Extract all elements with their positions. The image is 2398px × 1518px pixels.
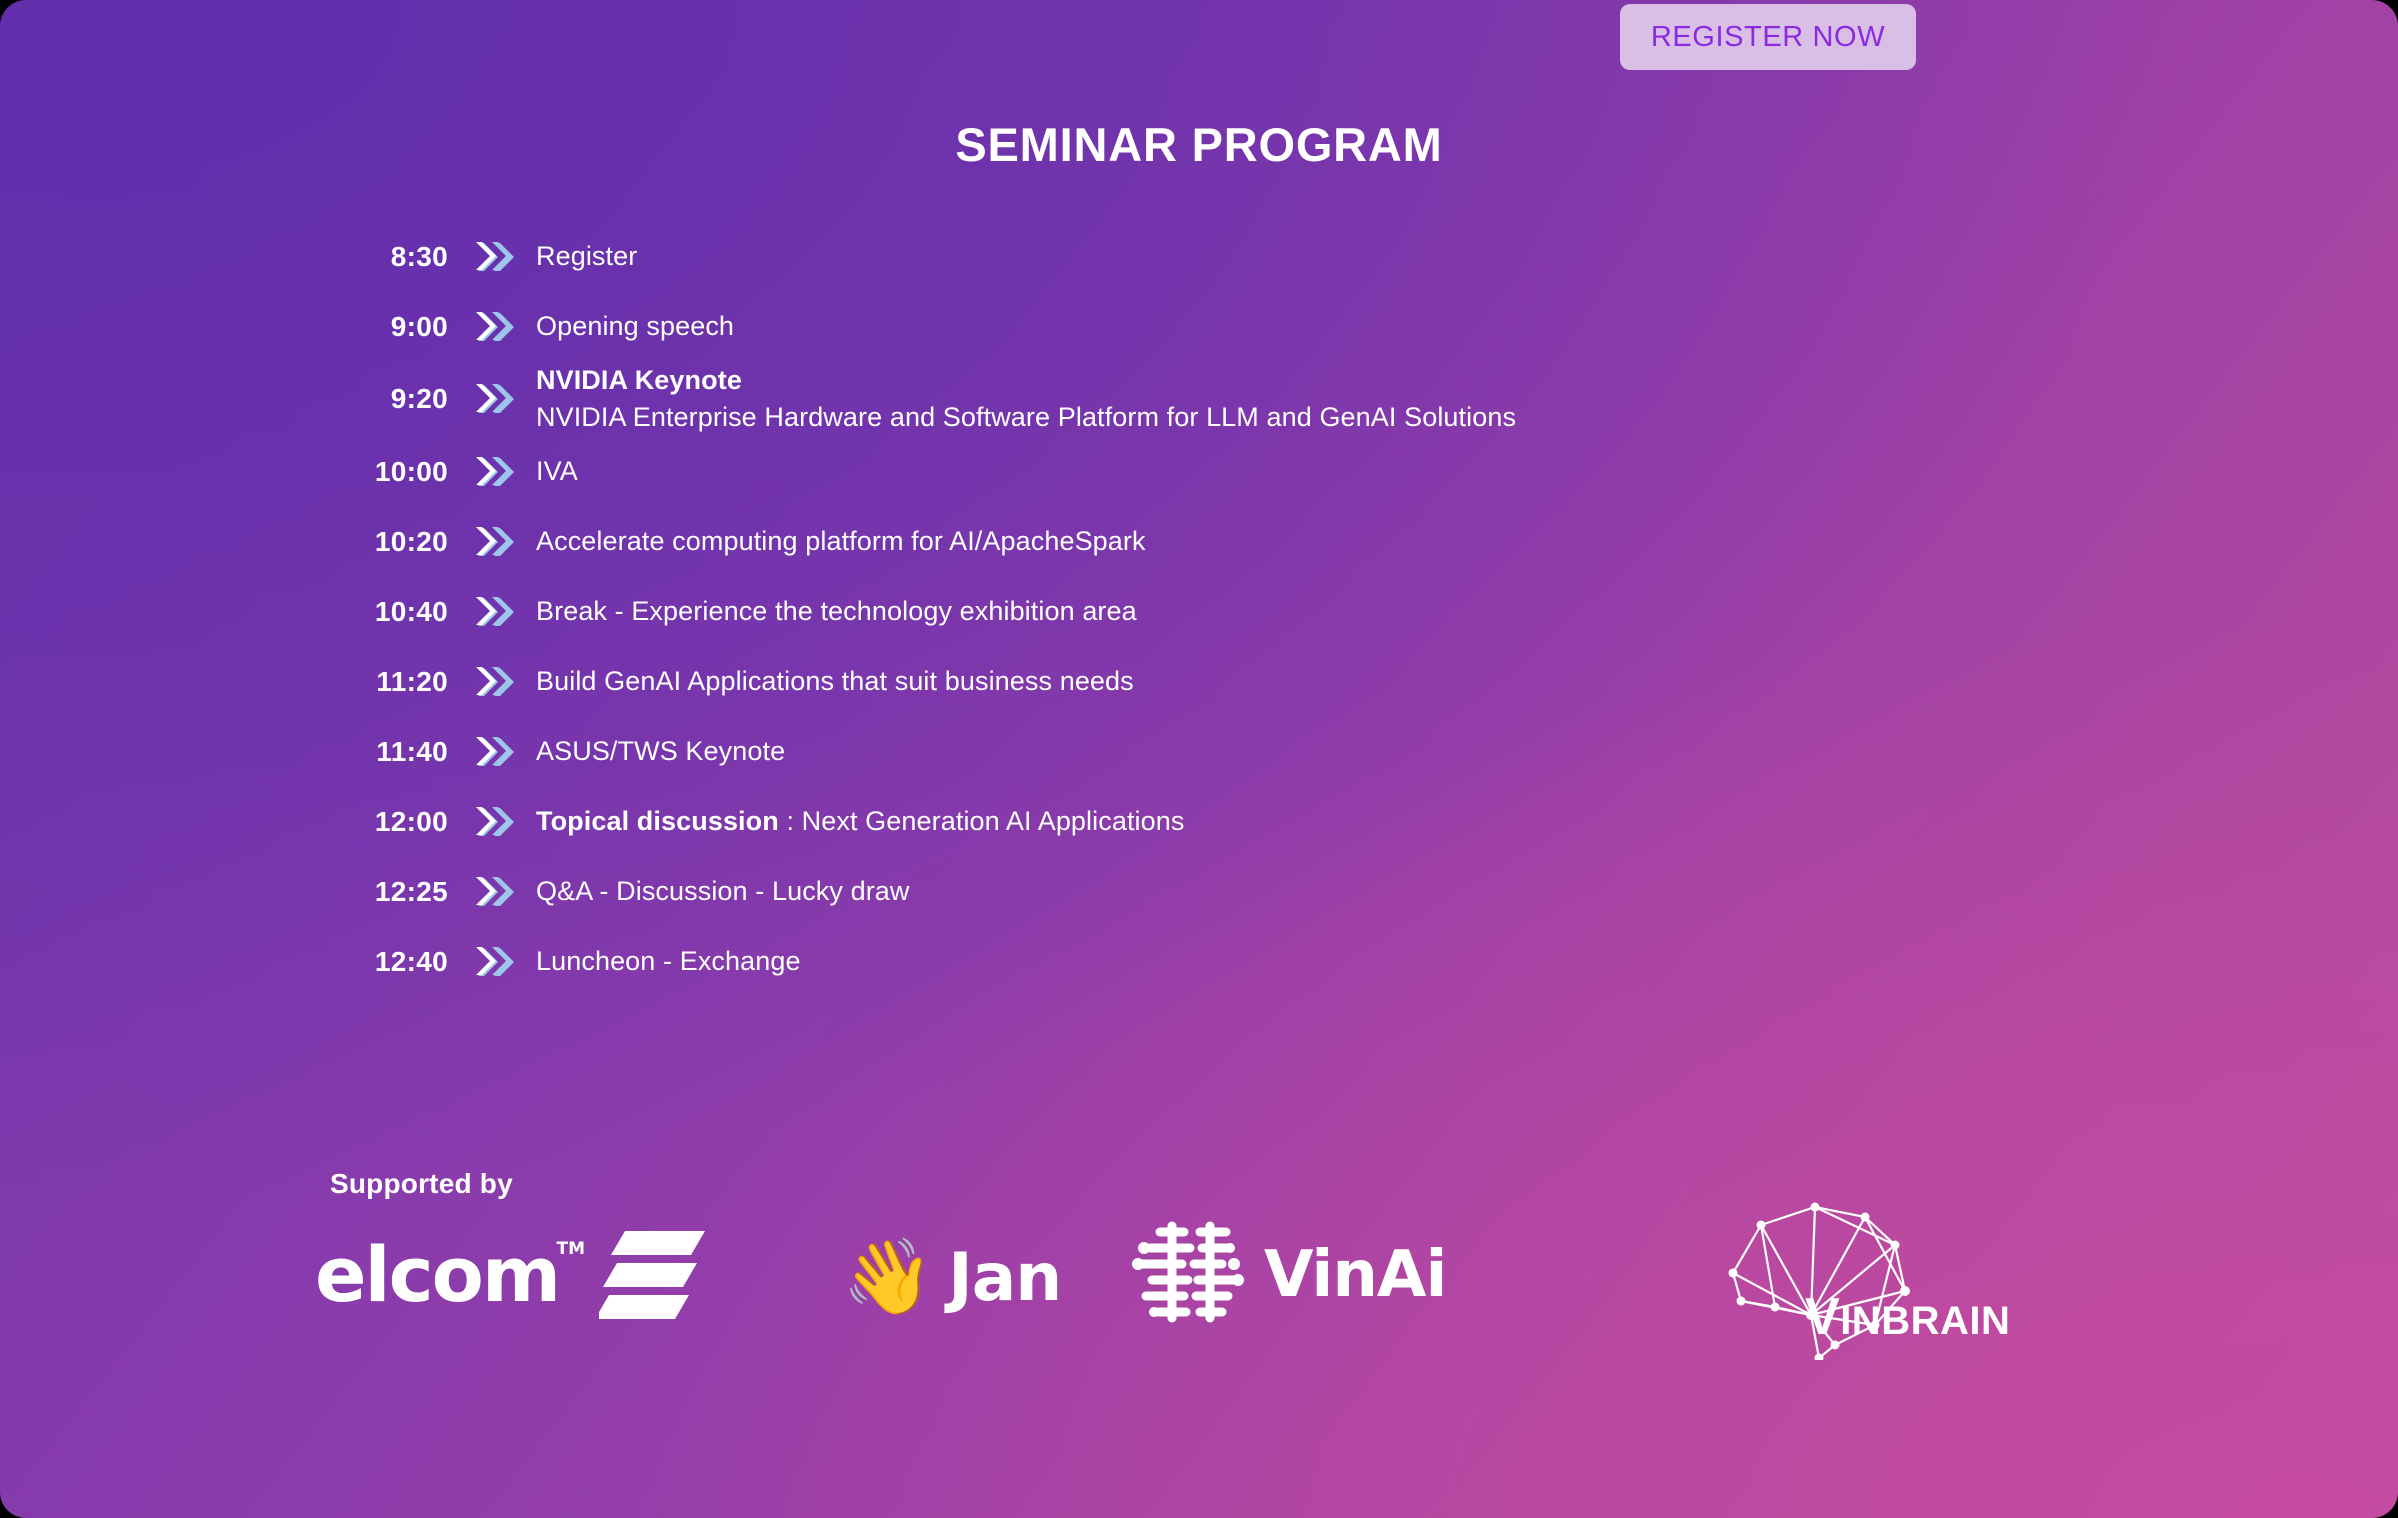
agenda-item-subtitle: NVIDIA Enterprise Hardware and Software … — [536, 399, 1516, 436]
agenda-item-label: Accelerate computing platform for AI/Apa… — [536, 526, 1146, 556]
double-chevron-right-icon — [448, 382, 536, 416]
agenda-item-text: Q&A - Discussion - Lucky draw — [536, 873, 910, 910]
double-chevron-right-icon — [448, 945, 536, 979]
agenda-time: 9:20 — [320, 383, 448, 415]
agenda-item-label: Register — [536, 241, 637, 271]
agenda-time: 12:00 — [320, 806, 448, 838]
agenda-item-label: Opening speech — [536, 311, 734, 341]
agenda-row: 11:20Build GenAI Applications that suit … — [320, 647, 2120, 717]
agenda-row: 12:25Q&A - Discussion - Lucky draw — [320, 857, 2120, 927]
double-chevron-right-icon — [448, 525, 536, 559]
agenda-row: 12:00Topical discussion : Next Generatio… — [320, 787, 2120, 857]
agenda-row: 9:20NVIDIA KeynoteNVIDIA Enterprise Hard… — [320, 362, 2120, 437]
agenda-row: 10:00IVA — [320, 437, 2120, 507]
sponsor-logo-vinai: VinAi — [1130, 1215, 1446, 1335]
trademark-icon: TM — [557, 1241, 586, 1258]
agenda-row: 12:40Luncheon - Exchange — [320, 927, 2120, 997]
agenda-time: 11:40 — [320, 736, 448, 768]
double-chevron-right-icon — [448, 805, 536, 839]
vinbrain-word-cap: V — [1805, 1288, 1840, 1346]
double-chevron-right-icon — [448, 455, 536, 489]
agenda-time: 11:20 — [320, 666, 448, 698]
agenda-item-label: ASUS/TWS Keynote — [536, 736, 785, 766]
double-chevron-right-icon — [448, 595, 536, 629]
vinbrain-wordmark: VINBRAIN — [1805, 1287, 2010, 1347]
agenda-row: 10:40Break - Experience the technology e… — [320, 577, 2120, 647]
double-chevron-right-icon — [448, 240, 536, 274]
agenda-item-text: Register — [536, 238, 637, 275]
elcom-e-mark-icon — [599, 1227, 707, 1324]
agenda-item-text: ASUS/TWS Keynote — [536, 733, 785, 770]
sponsor-logo-jan: 👋 Jan — [842, 1217, 1061, 1337]
agenda-item-bold-prefix: Topical discussion — [536, 806, 779, 836]
double-chevron-right-icon — [448, 875, 536, 909]
agenda-time: 12:25 — [320, 876, 448, 908]
agenda-row: 10:20Accelerate computing platform for A… — [320, 507, 2120, 577]
agenda-item-text: Luncheon - Exchange — [536, 943, 801, 980]
agenda-item-label: Break - Experience the technology exhibi… — [536, 596, 1137, 626]
agenda-item-text: Opening speech — [536, 308, 734, 345]
sponsor-logo-strip: elcom TM 👋 Jan — [300, 1215, 2200, 1345]
vinai-circuit-mark-icon — [1130, 1214, 1248, 1337]
agenda-item-text: NVIDIA KeynoteNVIDIA Enterprise Hardware… — [536, 362, 1516, 437]
agenda-row: 9:00Opening speech — [320, 292, 2120, 362]
agenda-item-text: Build GenAI Applications that suit busin… — [536, 663, 1134, 700]
elcom-wordmark: elcom TM — [315, 1237, 559, 1313]
agenda-time: 8:30 — [320, 241, 448, 273]
agenda-item-text: Accelerate computing platform for AI/Apa… — [536, 523, 1146, 560]
double-chevron-right-icon — [448, 735, 536, 769]
register-now-button[interactable]: REGISTER NOW — [1620, 4, 1916, 70]
double-chevron-right-icon — [448, 310, 536, 344]
agenda-item-label: Build GenAI Applications that suit busin… — [536, 666, 1134, 696]
agenda-row: 11:40ASUS/TWS Keynote — [320, 717, 2120, 787]
agenda-list: 8:30Register9:00Opening speech9:20NVIDIA… — [320, 222, 2120, 997]
agenda-time: 10:00 — [320, 456, 448, 488]
agenda-row: 8:30Register — [320, 222, 2120, 292]
elcom-word-text: elcom — [315, 1230, 559, 1319]
vinbrain-word-rest: INBRAIN — [1840, 1299, 2010, 1343]
agenda-time: 9:00 — [320, 311, 448, 343]
agenda-item-label: IVA — [536, 456, 578, 486]
agenda-item-title: NVIDIA Keynote — [536, 362, 1516, 399]
agenda-time: 12:40 — [320, 946, 448, 978]
agenda-item-label: Q&A - Discussion - Lucky draw — [536, 876, 910, 906]
agenda-time: 10:40 — [320, 596, 448, 628]
sponsor-logo-elcom: elcom TM — [315, 1215, 707, 1335]
agenda-item-label: Luncheon - Exchange — [536, 946, 801, 976]
agenda-item-text: Topical discussion : Next Generation AI … — [536, 803, 1185, 840]
sponsor-logo-vinbrain: VINBRAIN — [1715, 1195, 1965, 1355]
double-chevron-right-icon — [448, 665, 536, 699]
agenda-item-text: Break - Experience the technology exhibi… — [536, 593, 1137, 630]
seminar-program-page: REGISTER NOW SEMINAR PROGRAM 8:30Registe… — [0, 0, 2398, 1518]
vinai-wordmark: VinAi — [1264, 1238, 1446, 1312]
agenda-item-text: IVA — [536, 453, 578, 490]
jan-wordmark: Jan — [948, 1239, 1061, 1316]
supported-by-label: Supported by — [330, 1168, 513, 1200]
page-title: SEMINAR PROGRAM — [0, 117, 2398, 172]
agenda-item-rest: : Next Generation AI Applications — [779, 806, 1185, 836]
agenda-time: 10:20 — [320, 526, 448, 558]
waving-hand-icon: 👋 — [842, 1240, 934, 1314]
